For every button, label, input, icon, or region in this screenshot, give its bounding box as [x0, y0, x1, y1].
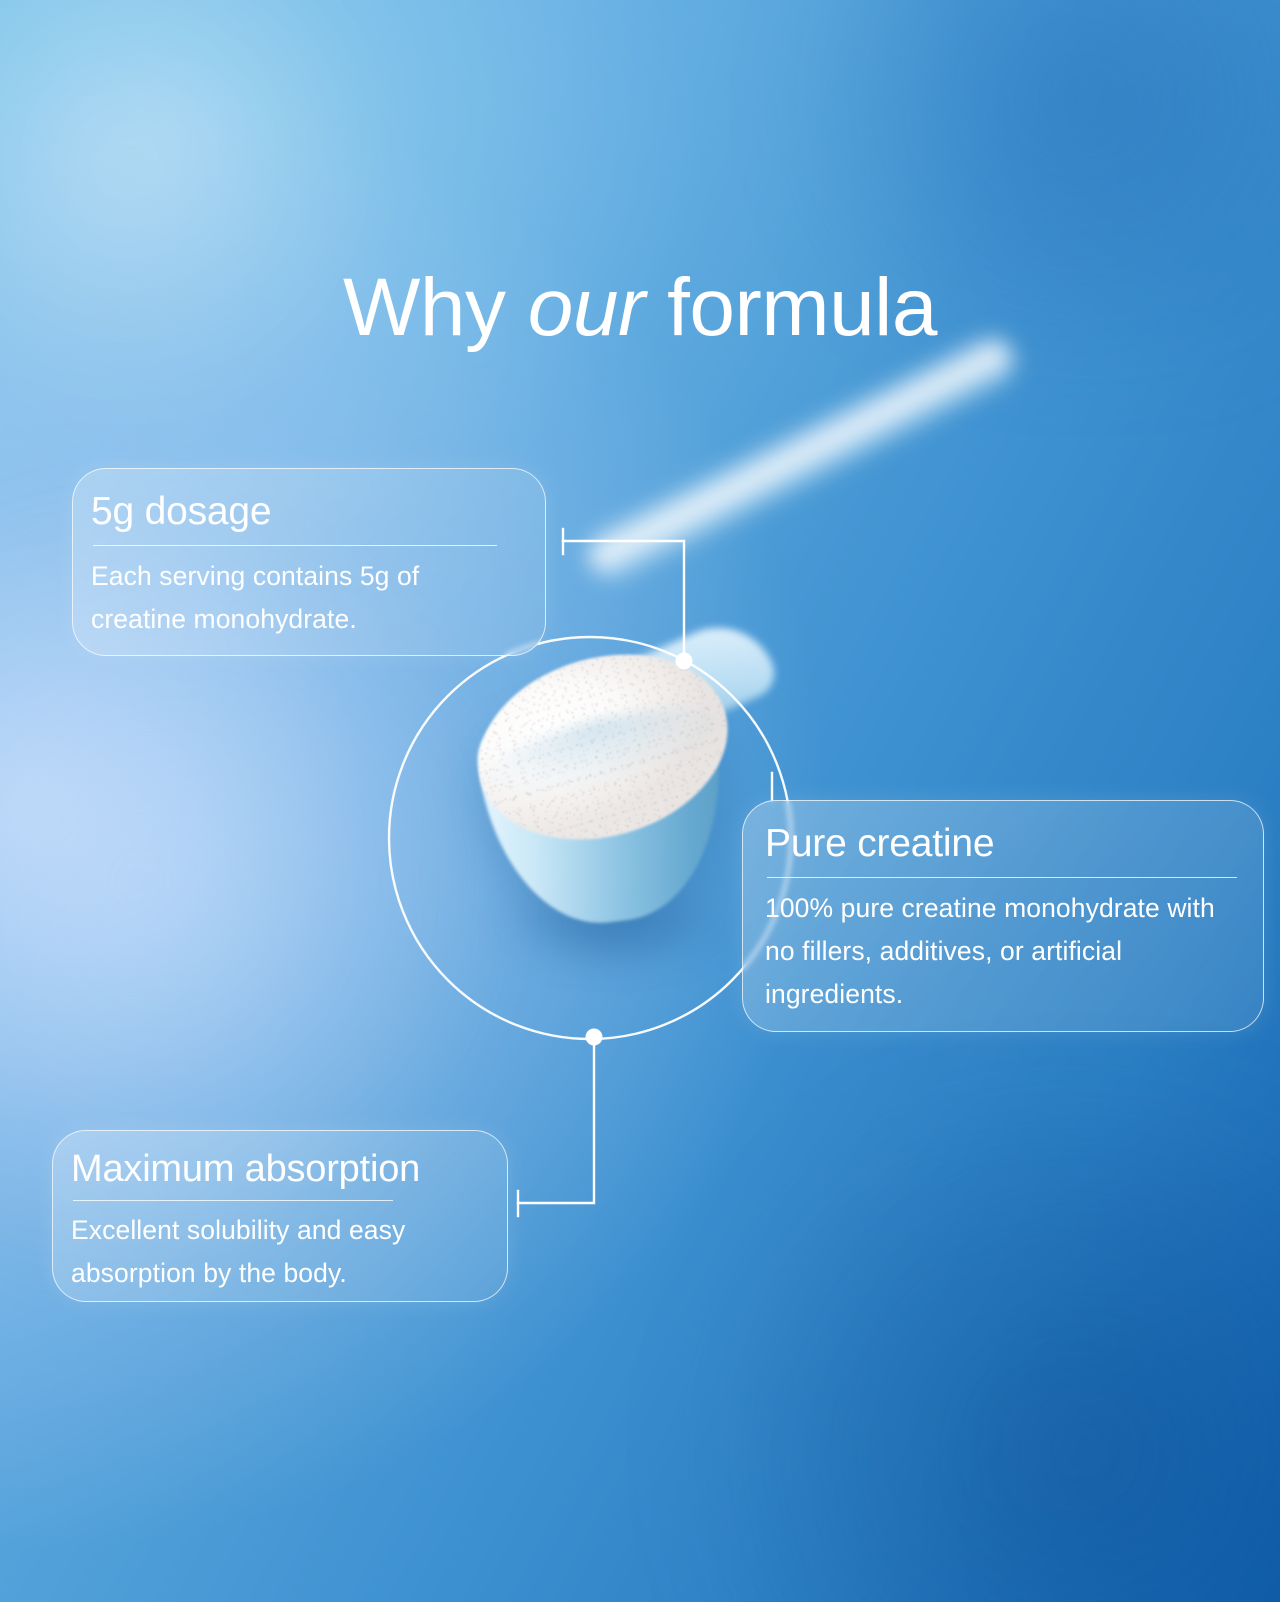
scoop-handle [580, 328, 1023, 589]
card-body-pure-creatine: 100% pure creatine monohydrate with no f… [765, 887, 1241, 1016]
scoop-neck [602, 609, 782, 751]
info-card-pure-creatine[interactable]: Pure creatine 100% pure creatine monohyd… [742, 800, 1264, 1032]
card-divider-absorption [73, 1200, 393, 1201]
highlight-circle [389, 637, 791, 1039]
scoop-shadow [500, 890, 730, 960]
card-divider-pure-creatine [767, 877, 1237, 878]
background-glow-bottom-right [700, 1102, 1280, 1602]
info-card-dosage[interactable]: 5g dosage Each serving contains 5g of cr… [72, 468, 546, 656]
card-title-pure-creatine: Pure creatine [765, 823, 1241, 866]
powder-grain-texture [456, 626, 749, 867]
connector-absorption [518, 1029, 603, 1217]
scoop-cup [471, 672, 738, 935]
background-glow-top-left [0, 0, 400, 440]
scoop-rim-shading [476, 691, 731, 809]
info-card-absorption[interactable]: Maximum absorption Excellent solubility … [52, 1130, 508, 1302]
connector-dosage [563, 529, 693, 670]
page-title-suffix: formula [645, 262, 937, 353]
card-title-absorption: Maximum absorption [71, 1149, 485, 1191]
page-title-emphasis: our [528, 262, 645, 353]
page-title-prefix: Why [343, 262, 528, 353]
card-body-absorption: Excellent solubility and easy absorption… [71, 1209, 485, 1295]
infographic-canvas: Why our formula 5g dosage Each serving c… [0, 0, 1280, 1602]
page-title: Why our formula [0, 267, 1280, 349]
card-title-dosage: 5g dosage [91, 491, 519, 534]
creatine-powder [456, 626, 749, 867]
card-body-dosage: Each serving contains 5g of creatine mon… [91, 555, 519, 641]
card-divider-dosage [93, 545, 497, 546]
